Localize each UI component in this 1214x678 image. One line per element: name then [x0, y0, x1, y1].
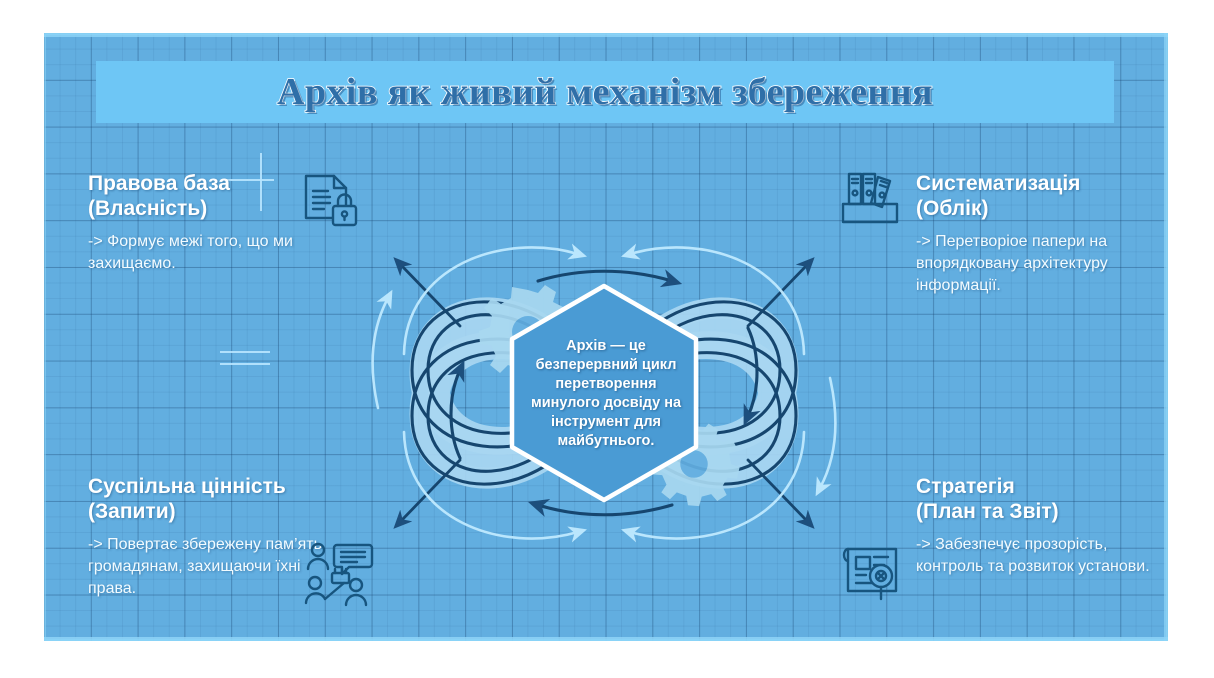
corner-tick-lower-2 — [220, 363, 270, 365]
block-legal-heading-text: Правова база — [88, 172, 230, 195]
block-system: Систематизація(Облік) -> Перетворіое пап… — [916, 171, 1168, 297]
block-strategy: Стратегія(План та Звіт) -> Забезпечує пр… — [916, 474, 1168, 578]
block-system-subheading-text: (Облік) — [916, 197, 988, 220]
corner-tick-lower — [220, 351, 270, 353]
block-legal-subheading-text: (Власність) — [88, 197, 207, 220]
page-title: Архів як живий механізм збереження — [96, 61, 1114, 123]
document-lock-icon — [300, 172, 362, 236]
infinity-cycle-diagram — [342, 158, 866, 628]
block-strategy-body: -> Забезпечує прозорість, контроль та ро… — [916, 534, 1168, 578]
people-request-icon — [304, 541, 376, 607]
block-system-body: -> Перетворіое папери на впорядковану ар… — [916, 231, 1168, 297]
slide-canvas: Архів як живий механізм збереження — [44, 33, 1168, 641]
block-legal-body: -> Формує межі того, що ми захищаємо. — [88, 231, 350, 275]
binders-shelf-icon — [838, 168, 906, 230]
top-accent-bar — [44, 33, 1168, 37]
block-system-heading-text: Систематизація — [916, 172, 1080, 195]
bottom-accent-bar — [44, 637, 1168, 641]
block-strategy-subheading-text: (План та Звіт) — [916, 500, 1059, 523]
block-public-heading-text: Суспільна цінність — [88, 475, 286, 498]
block-system-heading: Систематизація(Облік) — [916, 171, 1168, 221]
block-public-heading: Суспільна цінність(Запити) — [88, 474, 350, 524]
block-public-subheading-text: (Запити) — [88, 500, 176, 523]
block-strategy-heading-text: Стратегія — [916, 475, 1015, 498]
block-strategy-heading: Стратегія(План та Звіт) — [916, 474, 1168, 524]
blueprint-search-icon — [840, 543, 906, 605]
